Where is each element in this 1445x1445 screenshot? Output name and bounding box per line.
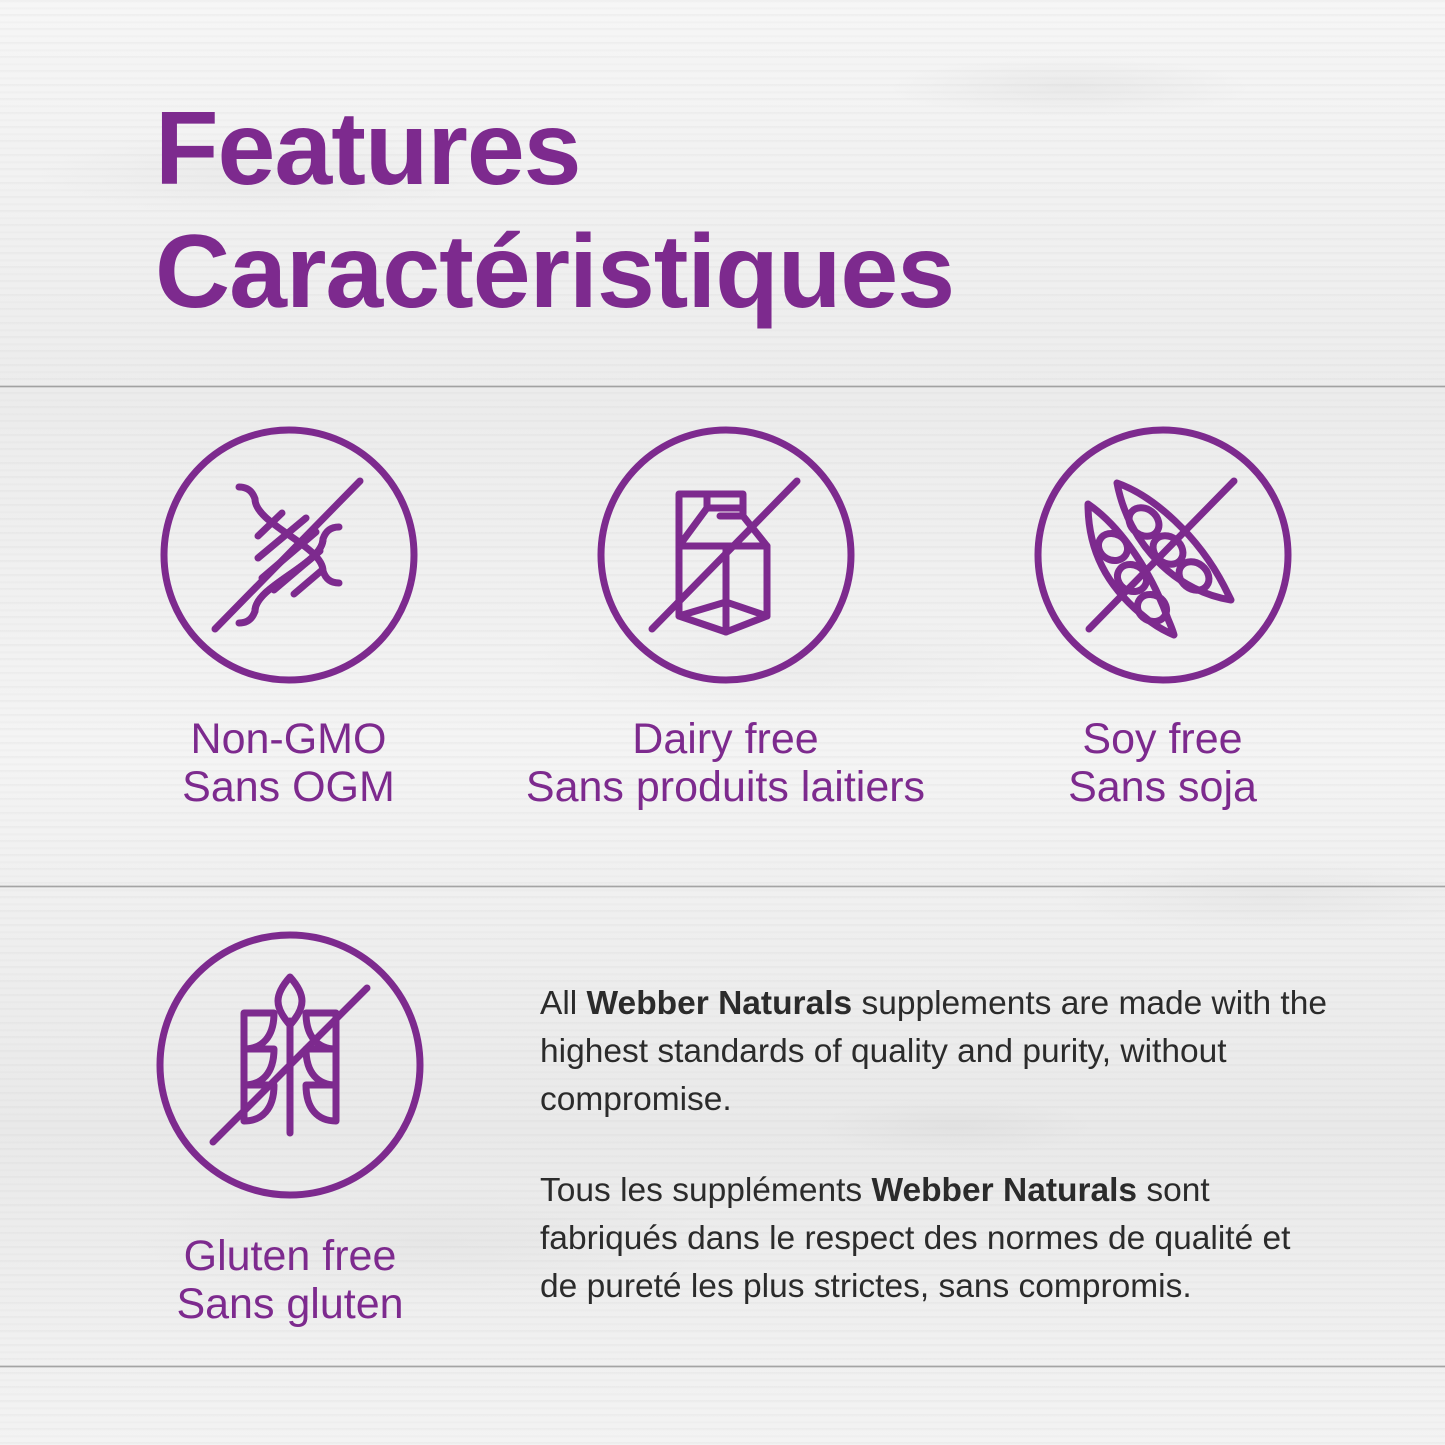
feature-item-non-gmo: Non-GMO Sans OGM <box>70 420 507 811</box>
label-english: Non-GMO <box>182 715 395 763</box>
label-english: Soy free <box>1068 715 1257 763</box>
copy-en-before: All <box>540 985 587 1022</box>
label-english: Gluten free <box>176 1232 403 1280</box>
feature-label-dairy-free: Dairy free Sans produits laitiers <box>526 715 925 811</box>
feature-label-non-gmo: Non-GMO Sans OGM <box>182 715 395 811</box>
no-wheat-icon <box>150 925 430 1210</box>
plank-seam-middle <box>0 885 1445 888</box>
brand-copy-block: All Webber Naturals supplements are made… <box>540 925 1330 1328</box>
feature-item-gluten-free: Gluten free Sans gluten <box>145 925 435 1328</box>
brand-name-fr: Webber Naturals <box>871 1172 1137 1209</box>
brand-name-en: Webber Naturals <box>587 985 853 1022</box>
no-milk-carton-icon <box>591 420 861 695</box>
copy-paragraph-french: Tous les suppléments Webber Naturals son… <box>540 1167 1330 1312</box>
title-french: Caractéristiques <box>155 211 954 334</box>
feature-row: Non-GMO Sans OGM <box>0 420 1445 811</box>
no-pea-pod-icon <box>1028 420 1298 695</box>
copy-fr-before: Tous les suppléments <box>540 1172 871 1209</box>
plank-seam-top <box>0 385 1445 388</box>
feature-graphic: Features Caractéristiques <box>0 0 1445 1445</box>
feature-label-gluten-free: Gluten free Sans gluten <box>176 1232 403 1328</box>
feature-label-soy-free: Soy free Sans soja <box>1068 715 1257 811</box>
label-french: Sans soja <box>1068 763 1257 811</box>
page-title: Features Caractéristiques <box>155 88 954 333</box>
label-english: Dairy free <box>526 715 925 763</box>
copy-paragraph-english: All Webber Naturals supplements are made… <box>540 980 1330 1125</box>
no-dna-icon <box>154 420 424 695</box>
feature-item-dairy-free: Dairy free Sans produits laitiers <box>507 420 944 811</box>
label-french: Sans OGM <box>182 763 395 811</box>
label-french: Sans produits laitiers <box>526 763 925 811</box>
plank-seam-bottom <box>0 1365 1445 1368</box>
feature-item-soy-free: Soy free Sans soja <box>944 420 1381 811</box>
label-french: Sans gluten <box>176 1280 403 1328</box>
title-english: Features <box>155 88 954 211</box>
bottom-section: Gluten free Sans gluten All Webber Natur… <box>0 925 1445 1328</box>
